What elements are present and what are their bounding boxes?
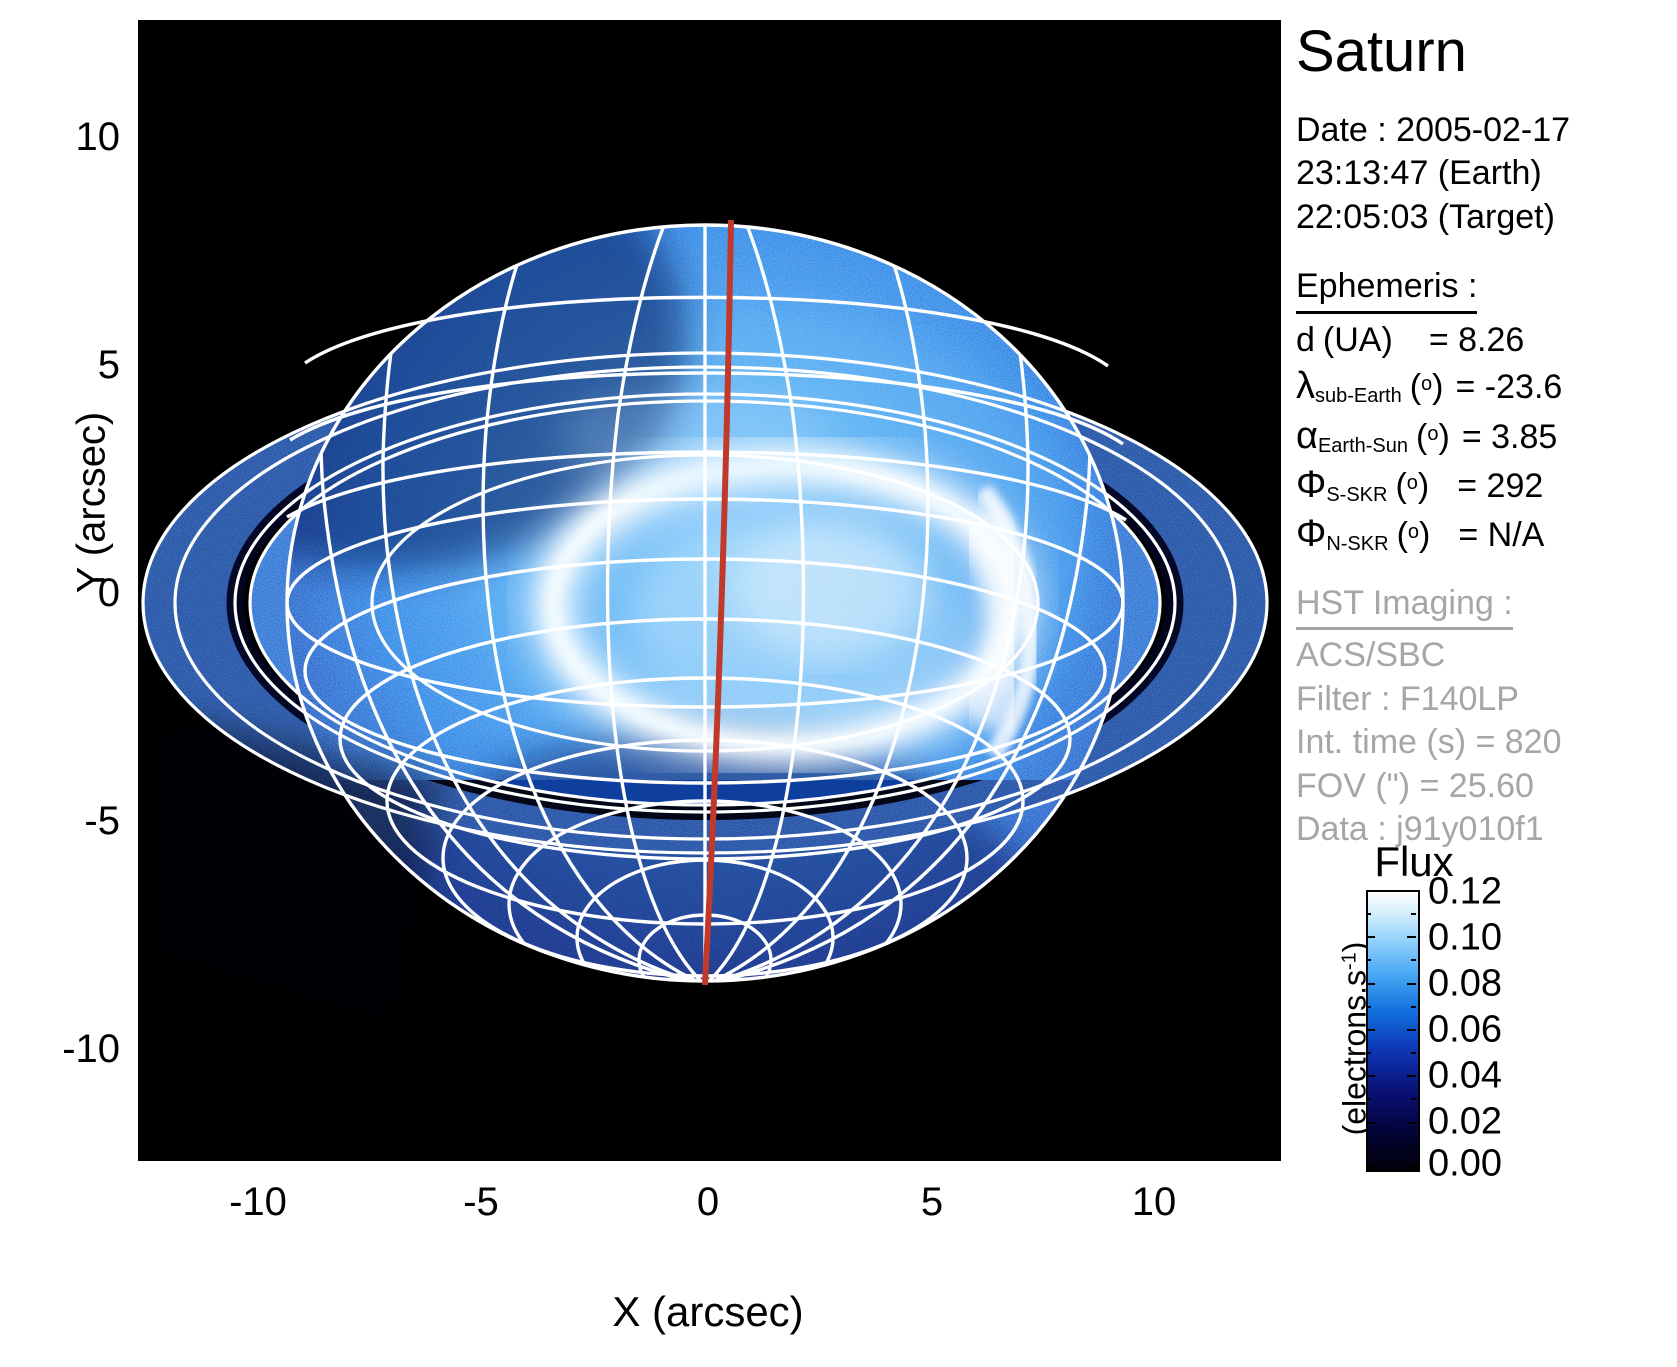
- y-axis-label: Y (arcsec): [70, 383, 115, 623]
- ephemeris-row-sub-earth-latitude: λsub-Earth(o)= -23.6: [1296, 362, 1677, 411]
- ephemeris-unit-phi-north: (o): [1397, 516, 1431, 554]
- colorbar-tick-0.08: 0.08: [1428, 963, 1502, 1006]
- ephemeris-unit-alpha: (o): [1416, 418, 1450, 456]
- x-tick-10: 10: [1094, 1182, 1214, 1222]
- colorbar-tick-0.06: 0.06: [1428, 1009, 1502, 1052]
- observation-time-earth: 23:13:47 (Earth): [1296, 152, 1677, 196]
- page-title: Saturn: [1296, 22, 1677, 83]
- ephemeris-value-phi-south: = 292: [1457, 464, 1543, 508]
- x-tick-5: 5: [872, 1182, 992, 1222]
- ephemeris-row-south-skr-phase: ΦS-SKR(o)= 292: [1296, 461, 1677, 510]
- observation-block: Date : 2005-02-17 23:13:47 (Earth) 22:05…: [1296, 109, 1677, 240]
- ephemeris-value-alpha: = 3.85: [1462, 415, 1557, 459]
- ephemeris-symbol-lambda: λ: [1296, 365, 1315, 407]
- ephemeris-value-lambda: = -23.6: [1456, 365, 1563, 409]
- saturn-image-plot: [138, 20, 1281, 1161]
- y-tick-minus5: -5: [10, 801, 120, 841]
- colorbar-tick-marks: [1366, 890, 1416, 1168]
- info-panel: Saturn Date : 2005-02-17 23:13:47 (Earth…: [1296, 10, 1677, 852]
- ephemeris-row-distance: d(UA)= 8.26: [1296, 318, 1677, 362]
- ephemeris-symbol-d: d: [1296, 321, 1315, 359]
- ephemeris-unit-phi-south: (o): [1395, 467, 1429, 505]
- ephemeris-value-phi-north: = N/A: [1458, 513, 1544, 557]
- hst-filter: Filter : F140LP: [1296, 678, 1677, 722]
- saturn-image-canvas: [138, 20, 1281, 1161]
- ephemeris-unit-d: (UA): [1323, 321, 1393, 359]
- hst-imaging-block: HST Imaging : ACS/SBC Filter : F140LP In…: [1296, 582, 1677, 852]
- y-tick-5: 5: [10, 345, 120, 385]
- ephemeris-subscript-s-skr: S-SKR: [1326, 484, 1387, 506]
- colorbar-tick-0.00: 0.00: [1428, 1143, 1502, 1186]
- ephemeris-unit-lambda: (o): [1410, 368, 1444, 406]
- x-tick-minus5: -5: [421, 1182, 541, 1222]
- figure-root: 10 5 0 -5 -10 Y (arcsec) -10 -5 0 5 10 X…: [0, 0, 1677, 1367]
- flux-colorbar: Flux (electrons.s-1) 0.12 0.10 0.08 0.06…: [1296, 838, 1677, 1218]
- ephemeris-symbol-alpha: α: [1296, 415, 1318, 457]
- ephemeris-heading: Ephemeris :: [1296, 265, 1477, 314]
- x-tick-minus10: -10: [198, 1182, 318, 1222]
- hst-imaging-heading: HST Imaging :: [1296, 582, 1513, 631]
- observation-time-target: 22:05:03 (Target): [1296, 196, 1677, 240]
- hst-instrument: ACS/SBC: [1296, 634, 1677, 678]
- colorbar-tick-0.02: 0.02: [1428, 1101, 1502, 1144]
- colorbar-axis-label-exponent: -1: [1339, 952, 1361, 970]
- ephemeris-value-d: = 8.26: [1429, 318, 1524, 362]
- observation-date: Date : 2005-02-17: [1296, 109, 1677, 153]
- ephemeris-symbol-phi-south: Φ: [1296, 464, 1326, 506]
- colorbar-tick-0.12: 0.12: [1428, 871, 1502, 914]
- hst-field-of-view: FOV (") = 25.60: [1296, 765, 1677, 809]
- ephemeris-row-earth-sun-phase-angle: αEarth-Sun(o)= 3.85: [1296, 412, 1677, 461]
- colorbar-tick-0.04: 0.04: [1428, 1055, 1502, 1098]
- ephemeris-subscript-n-skr: N-SKR: [1326, 533, 1388, 555]
- x-axis-label: X (arcsec): [538, 1288, 878, 1336]
- hst-integration-time: Int. time (s) = 820: [1296, 721, 1677, 765]
- ephemeris-symbol-phi-north: Φ: [1296, 513, 1326, 555]
- ephemeris-subscript-sub-earth: sub-Earth: [1315, 385, 1402, 407]
- ephemeris-subscript-earth-sun: Earth-Sun: [1318, 435, 1408, 457]
- y-tick-minus10: -10: [10, 1029, 120, 1069]
- colorbar-tick-0.10: 0.10: [1428, 917, 1502, 960]
- x-tick-0: 0: [648, 1182, 768, 1222]
- ephemeris-block: Ephemeris : d(UA)= 8.26 λsub-Earth(o)= -…: [1296, 265, 1677, 559]
- y-tick-10: 10: [10, 117, 120, 157]
- ephemeris-row-north-skr-phase: ΦN-SKR(o)= N/A: [1296, 510, 1677, 559]
